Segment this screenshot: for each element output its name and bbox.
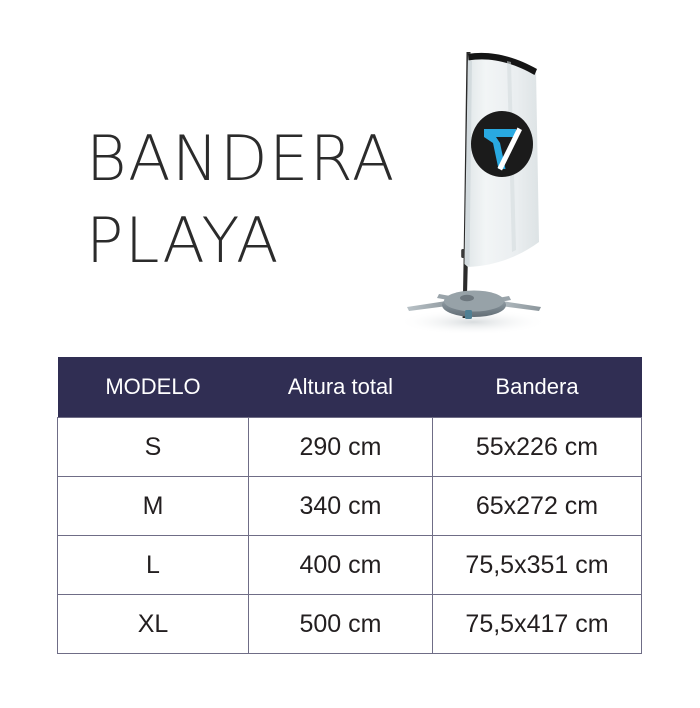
table-row: S 290 cm 55x226 cm xyxy=(58,418,642,477)
table-row: L 400 cm 75,5x351 cm xyxy=(58,536,642,595)
cell-bandera: 55x226 cm xyxy=(433,418,642,477)
column-header-bandera: Bandera xyxy=(433,357,642,418)
cell-modelo: M xyxy=(58,477,249,536)
cell-altura: 500 cm xyxy=(249,595,433,654)
cell-modelo: XL xyxy=(58,595,249,654)
cell-altura: 400 cm xyxy=(249,536,433,595)
cell-bandera: 75,5x417 cm xyxy=(433,595,642,654)
cell-bandera: 65x272 cm xyxy=(433,477,642,536)
cell-modelo: S xyxy=(58,418,249,477)
table-row: M 340 cm 65x272 cm xyxy=(58,477,642,536)
flag-logo xyxy=(471,111,533,177)
beach-flag-image xyxy=(395,28,585,348)
column-header-altura: Altura total xyxy=(249,357,433,418)
cell-bandera: 75,5x351 cm xyxy=(433,536,642,595)
cell-altura: 340 cm xyxy=(249,477,433,536)
specifications-table: MODELO Altura total Bandera S 290 cm 55x… xyxy=(57,357,642,654)
cell-altura: 290 cm xyxy=(249,418,433,477)
table-row: XL 500 cm 75,5x417 cm xyxy=(58,595,642,654)
table-header-row: MODELO Altura total Bandera xyxy=(58,357,642,418)
cell-modelo: L xyxy=(58,536,249,595)
column-header-modelo: MODELO xyxy=(58,357,249,418)
base-hub-top xyxy=(444,291,504,312)
base-collar xyxy=(460,295,474,301)
base-fill-cap xyxy=(465,310,472,319)
